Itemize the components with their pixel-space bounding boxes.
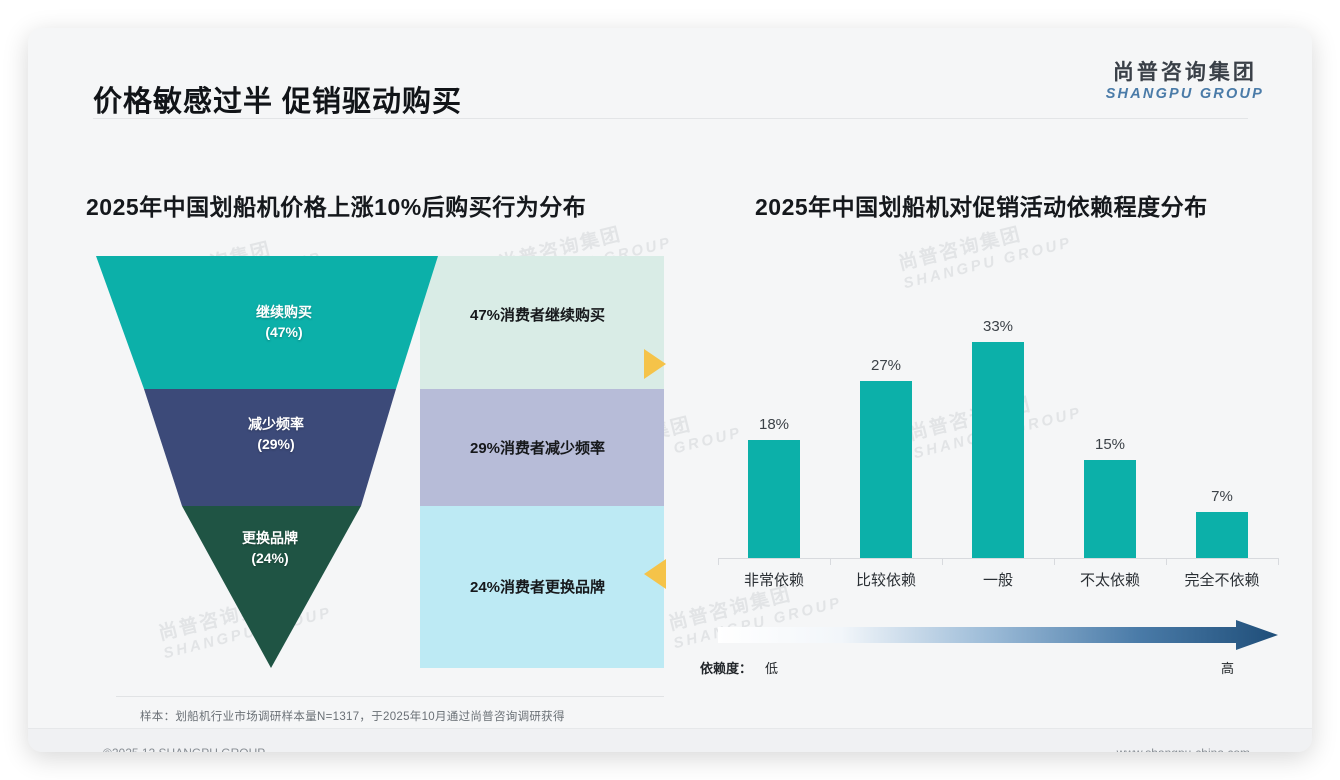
bar-rect-2 (972, 342, 1024, 558)
dependency-gradient-legend (718, 620, 1278, 650)
funnel-stage-1 (144, 389, 396, 506)
funnel-annotation-2: 24%消费者更换品牌 (470, 576, 605, 597)
x-axis-tick (942, 558, 943, 565)
x-axis-label-1: 比较依赖 (830, 569, 942, 590)
x-axis-label-3: 不太依赖 (1054, 569, 1166, 590)
gradient-arrow-icon (718, 620, 1278, 650)
bar-column-1: 27% (830, 290, 942, 558)
logo-english-name: SHANGPU GROUP (1106, 85, 1264, 104)
x-axis-label-4: 完全不依赖 (1166, 569, 1278, 590)
bar-value-3: 15% (1095, 436, 1125, 453)
footnote-text: 样本：划船机行业市场调研样本量N=1317，于2025年10月通过尚普咨询调研获… (140, 708, 565, 724)
bar-value-4: 7% (1211, 488, 1233, 505)
bar-rect-0 (748, 440, 800, 558)
bar-value-2: 33% (983, 318, 1013, 335)
page-title: 价格敏感过半 促销驱动购买 (93, 78, 462, 120)
bar-value-0: 18% (759, 416, 789, 433)
bar-rect-1 (860, 381, 912, 558)
footnote-divider (116, 696, 664, 697)
logo-chinese-name: 尚普咨询集团 (1106, 61, 1264, 85)
funnel-annotation-1: 29%消费者减少频率 (470, 437, 605, 458)
x-axis-line (718, 558, 1278, 559)
x-axis-tick (718, 558, 719, 565)
bar-value-1: 27% (871, 357, 901, 374)
x-axis-label-0: 非常依赖 (718, 569, 830, 590)
x-axis-tick (1054, 558, 1055, 565)
bar-rect-4 (1196, 512, 1248, 558)
bar-column-2: 33% (942, 290, 1054, 558)
left-chart-title: 2025年中国划船机价格上涨10%后购买行为分布 (86, 188, 586, 222)
footer-copyright: ©2025.12 SHANGPU GROUP (103, 746, 265, 752)
legend-title: 依赖度： (700, 658, 752, 677)
funnel-annotation-0: 47%消费者继续购买 (470, 304, 605, 325)
legend-high-label: 高 (1221, 658, 1234, 677)
x-axis-label-2: 一般 (942, 569, 1054, 590)
slide-card: 尚普咨询集团 SHANGPU GROUP 尚普咨询集团 SHANGPU GROU… (28, 28, 1312, 752)
funnel-stage-2 (182, 506, 361, 668)
x-axis-tick (1278, 558, 1279, 565)
funnel-stage-0 (96, 256, 438, 389)
bar-column-3: 15% (1054, 290, 1166, 558)
funnel-chart: 继续购买 (47%) 减少频率 (29%) 更换品牌 (24%) 47%消费者继… (86, 256, 664, 668)
brand-logo: 尚普咨询集团 SHANGPU GROUP (1106, 61, 1264, 104)
footer-website[interactable]: www.shangpu-china.com (1117, 746, 1250, 752)
bar-column-0: 18% (718, 290, 830, 558)
slide-header: 价格敏感过半 促销驱动购买 尚普咨询集团 SHANGPU GROUP (28, 28, 1312, 120)
triangle-right-icon (642, 348, 668, 380)
legend-low-label: 低 (765, 658, 778, 677)
right-chart-title: 2025年中国划船机对促销活动依赖程度分布 (755, 188, 1208, 222)
bar-rect-3 (1084, 460, 1136, 558)
bar-column-4: 7% (1166, 290, 1278, 558)
watermark-line2: SHANGPU GROUP (902, 234, 1074, 292)
x-axis-tick (830, 558, 831, 565)
x-axis-tick (1166, 558, 1167, 565)
triangle-left-icon (642, 558, 668, 590)
bar-chart: 18% 27% 33% 15% 7% (718, 290, 1278, 558)
